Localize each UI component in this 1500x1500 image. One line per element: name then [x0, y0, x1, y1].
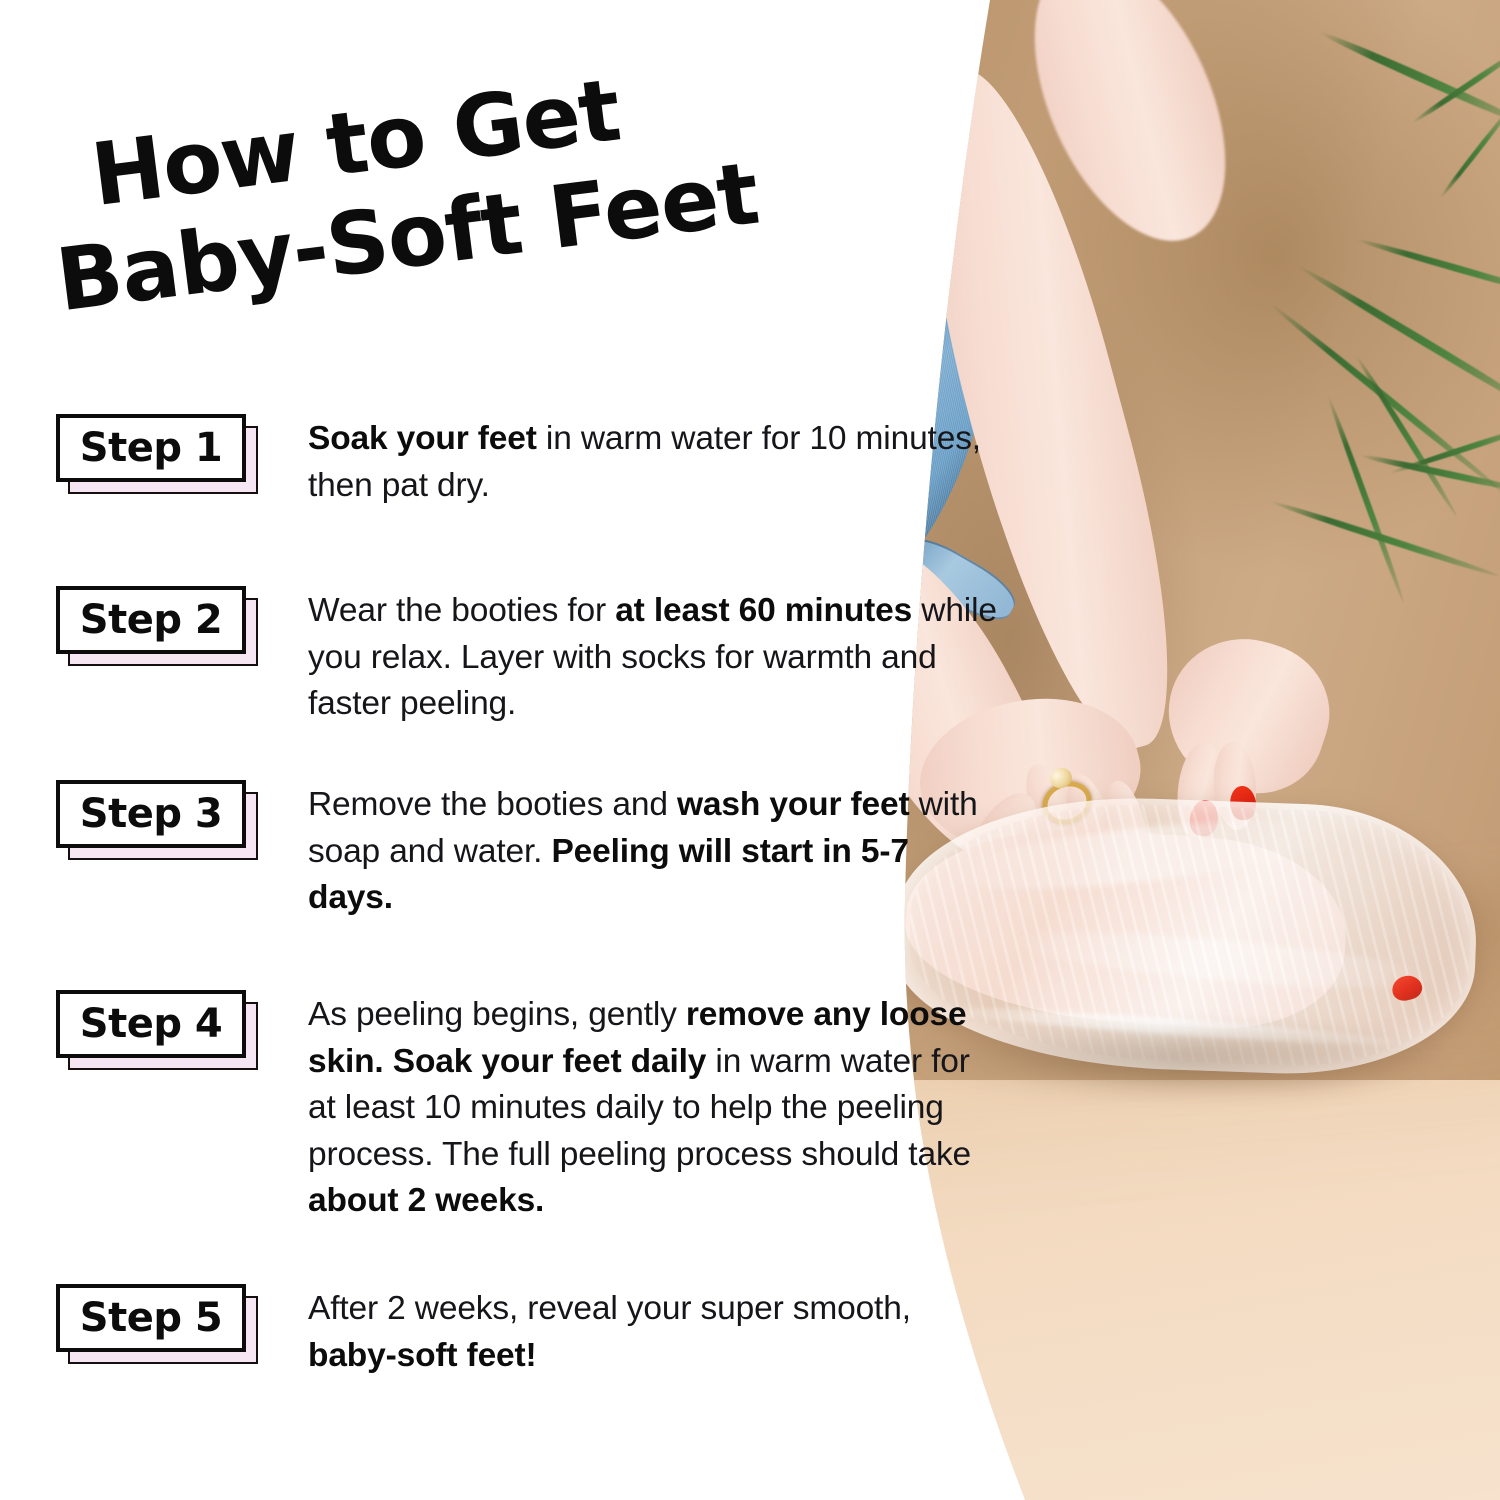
- step-badge-4: Step 4: [56, 968, 256, 1058]
- step-badge-1: Step 1: [56, 392, 256, 482]
- step-text-emphasis: about 2 weeks.: [308, 1182, 544, 1219]
- badge-box: Step 3: [56, 780, 246, 848]
- badge-box: Step 5: [56, 1284, 246, 1352]
- step-text: Wear the booties for: [308, 592, 615, 629]
- infographic-poster: How to Get Baby-Soft Feet Step 1Soak you…: [0, 0, 1500, 1500]
- step-text-emphasis: at least 60 minutes: [615, 592, 912, 629]
- badge-label: Step 3: [80, 794, 222, 834]
- step-badge-5: Step 5: [56, 1262, 256, 1352]
- step-text: Remove the booties and: [308, 786, 677, 823]
- step-row: Step 3Remove the booties and wash your f…: [0, 758, 1000, 922]
- step-description: Soak your feet in warm water for 10 minu…: [308, 392, 1000, 509]
- step-row: Step 1Soak your feet in warm water for 1…: [0, 392, 1000, 509]
- step-description: Wear the booties for at least 60 minutes…: [308, 564, 1000, 728]
- badge-box: Step 2: [56, 586, 246, 654]
- step-row: Step 2Wear the booties for at least 60 m…: [0, 564, 1000, 728]
- badge-label: Step 1: [80, 428, 222, 468]
- step-badge-3: Step 3: [56, 758, 256, 848]
- badge-label: Step 4: [80, 1004, 222, 1044]
- badge-label: Step 5: [80, 1298, 222, 1338]
- step-text: After 2 weeks, reveal your super smooth,: [308, 1290, 911, 1327]
- step-row: Step 5After 2 weeks, reveal your super s…: [0, 1262, 1000, 1379]
- step-badge-2: Step 2: [56, 564, 256, 654]
- step-text: As peeling begins, gently: [308, 996, 686, 1033]
- step-description: Remove the booties and wash your feet wi…: [308, 758, 1000, 922]
- badge-box: Step 1: [56, 414, 246, 482]
- step-text-emphasis: Soak your feet: [308, 420, 537, 457]
- badge-label: Step 2: [80, 600, 222, 640]
- badge-box: Step 4: [56, 990, 246, 1058]
- step-row: Step 4As peeling begins, gently remove a…: [0, 968, 1000, 1225]
- step-description: As peeling begins, gently remove any loo…: [308, 968, 1000, 1225]
- step-text-emphasis: wash your feet: [677, 786, 909, 823]
- forearm-tattoo: [808, 0, 978, 200]
- step-text-emphasis: baby-soft feet!: [308, 1337, 537, 1374]
- step-description: After 2 weeks, reveal your super smooth,…: [308, 1262, 1000, 1379]
- page-title: How to Get Baby-Soft Feet: [86, 38, 825, 326]
